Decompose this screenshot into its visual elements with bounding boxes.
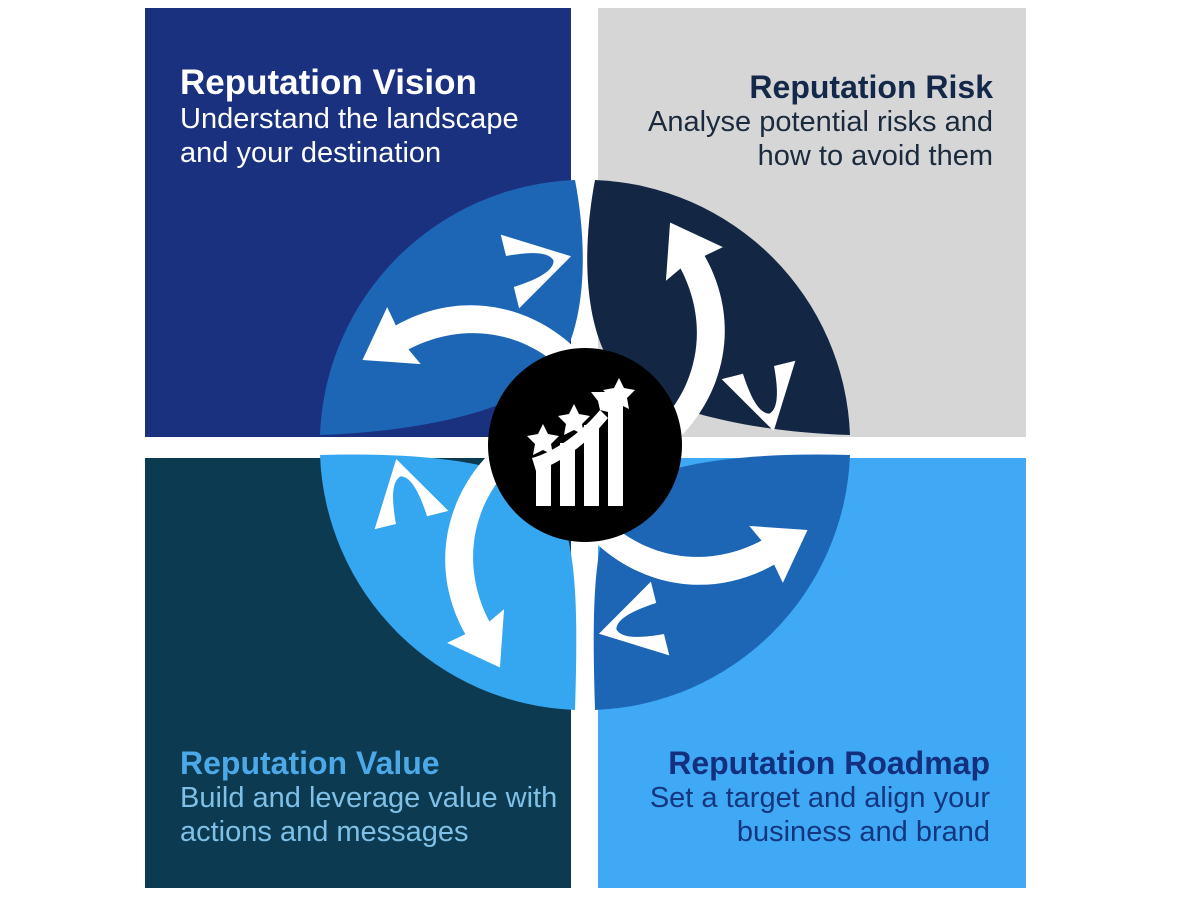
quadrant-vision-text: Reputation Vision Understand the landsca… [180,65,560,171]
quadrant-risk-text: Reputation Risk Analyse potential risks … [603,71,993,174]
center-badge[interactable] [488,348,682,542]
quadrant-value-title: Reputation Value [180,747,562,780]
quadrant-vision-title: Reputation Vision [180,65,560,101]
quadrant-roadmap-description: Set a target and align your business and… [598,782,990,849]
quadrant-value-description: Build and leverage value with actions an… [180,782,562,849]
quadrant-roadmap-text: Reputation Roadmap Set a target and alig… [598,747,990,850]
quadrant-risk-title: Reputation Risk [603,71,993,104]
quadrant-value-text: Reputation Value Build and leverage valu… [180,747,562,850]
quadrant-roadmap-title: Reputation Roadmap [598,747,990,780]
diagram-canvas: Reputation Vision Understand the landsca… [0,0,1200,900]
